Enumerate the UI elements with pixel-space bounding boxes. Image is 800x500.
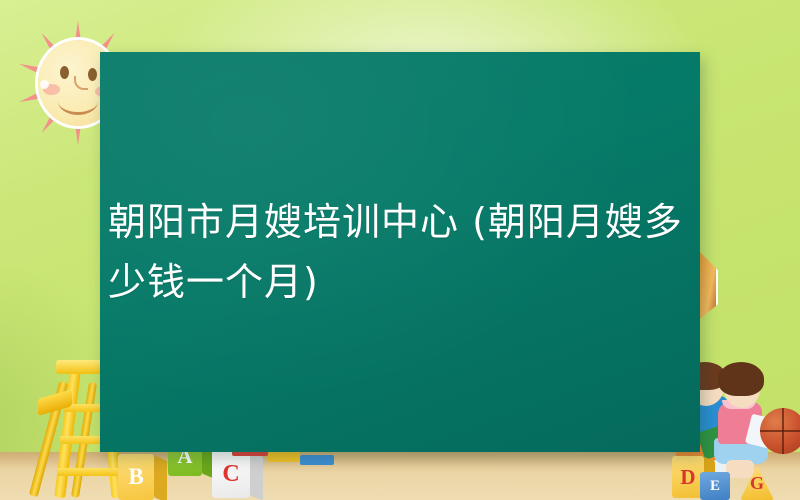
letter-block-c-label: C <box>212 450 250 498</box>
chalkboard-headline: 朝阳市月嫂培训中心 (朝阳月嫂多少钱一个月) <box>108 192 692 312</box>
block-strip-yellow <box>268 452 300 462</box>
sun-eye-right <box>88 68 97 81</box>
letter-block-b-label: B <box>118 454 154 500</box>
sun-eye-left <box>60 66 69 79</box>
girl-hair <box>718 362 764 396</box>
poster-canvas: A B C D E G 朝阳市月嫂培训中心 <box>0 0 800 500</box>
letter-block-e-label: E <box>700 472 730 500</box>
letter-block-e: E <box>700 472 734 500</box>
letter-block-g: G <box>740 466 780 500</box>
basketball-icon <box>760 408 800 454</box>
letter-block-g-label: G <box>740 466 774 500</box>
sun-smile <box>58 88 98 115</box>
block-strip-blue <box>300 455 334 465</box>
chalkboard: 朝阳市月嫂培训中心 (朝阳月嫂多少钱一个月) <box>100 52 700 452</box>
sun-highlight-left <box>40 80 49 89</box>
letter-block-b: B <box>118 452 168 500</box>
